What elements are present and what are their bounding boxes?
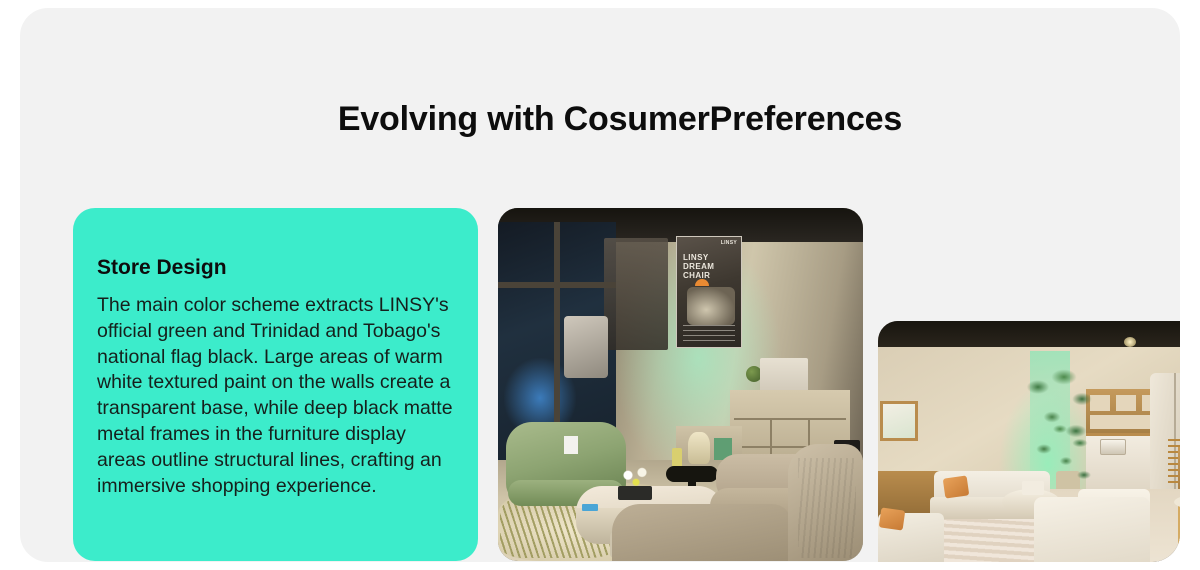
linsy-dream-chair-banner: LINSY LINSY DREAM CHAIR: [676, 236, 742, 348]
banner-bullet-text: [683, 325, 735, 341]
background-poster: [604, 238, 668, 350]
shelf-cube: [1116, 395, 1136, 411]
store-design-body: The main color scheme extracts LINSY's o…: [97, 293, 454, 499]
table-decor-object: [1022, 481, 1044, 495]
content-panel: Evolving with CosumerPreferences Store D…: [20, 8, 1180, 562]
ceiling-spotlight: [1124, 337, 1136, 347]
ribbed-side-table: [1178, 503, 1180, 549]
banner-line-2: DREAM: [683, 262, 714, 271]
shelf-divider: [734, 418, 846, 420]
white-armchair: [1034, 497, 1150, 562]
showroom-photo-right: [878, 321, 1180, 562]
banner-line-1: LINSY: [683, 253, 714, 262]
window-mullion-horizontal: [498, 282, 616, 288]
price-tag: [564, 436, 578, 454]
secondary-plant: [1050, 417, 1096, 487]
page-title: Evolving with CosumerPreferences: [20, 100, 1180, 139]
flower-arrangement: [616, 464, 656, 492]
banner-headline: LINSY DREAM CHAIR: [683, 253, 714, 280]
linsy-logo: LINSY: [721, 240, 737, 246]
showroom-photo-center: LINSY LINSY DREAM CHAIR: [498, 208, 863, 561]
framed-artwork: [880, 401, 918, 441]
slide-root: Evolving with CosumerPreferences Store D…: [0, 0, 1200, 570]
banner-lamp: [695, 279, 709, 286]
store-design-heading: Store Design: [97, 256, 454, 280]
decor-vase: [688, 432, 710, 464]
glass-wall-image: [564, 316, 608, 378]
dining-table: [1178, 447, 1180, 495]
beige-sofa-arm: [612, 504, 792, 561]
sofa-corduroy-texture: [798, 458, 856, 558]
store-design-card: Store Design The main color scheme extra…: [73, 208, 478, 561]
blue-info-card: [582, 504, 598, 511]
banner-chair-image: [687, 287, 735, 325]
orange-cushion: [943, 475, 970, 498]
orange-cushion: [879, 507, 906, 530]
